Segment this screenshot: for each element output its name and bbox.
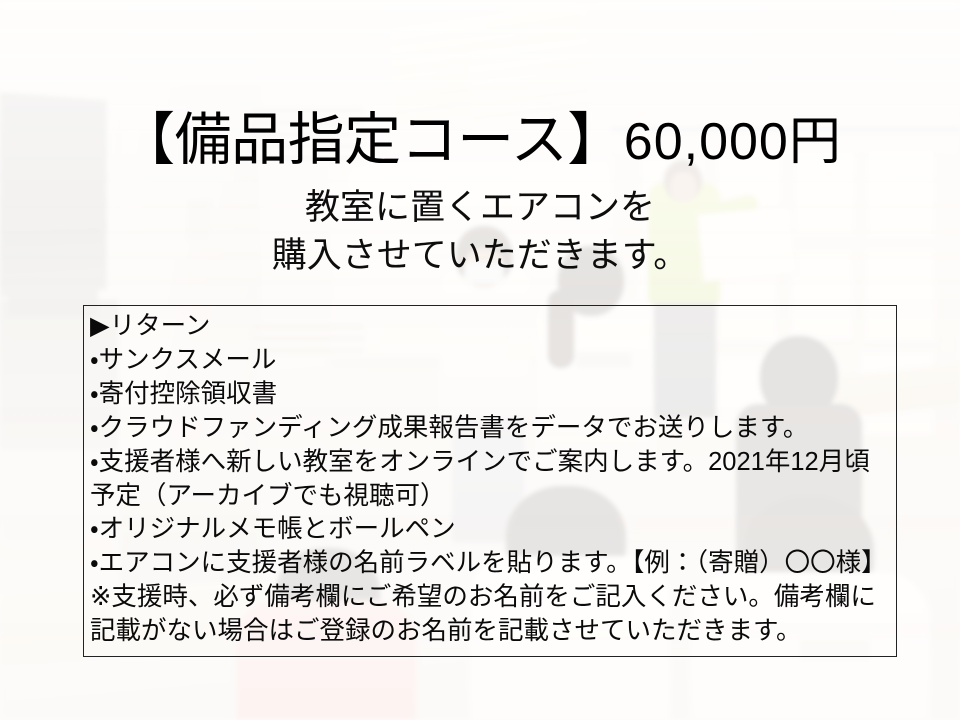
list-item: ・サンクスメール: [90, 344, 888, 378]
page-title: 【備品指定コース】60,000円: [0, 112, 960, 169]
subtitle: 教室に置くエアコンを 購入させていただきます。: [0, 184, 960, 281]
page-title-amount: 60,000円: [624, 113, 842, 171]
list-item: ・寄付控除領収書: [90, 378, 888, 412]
list-item: ・エアコンに支援者様の名前ラベルを貼ります。【例：（寄贈）〇〇様】: [90, 547, 888, 581]
page-title-course: 【備品指定コース】: [118, 108, 624, 172]
list-item: ・クラウドファンディング成果報告書をデータでお送りします。: [90, 412, 888, 446]
returns-list: ▶リターン ・サンクスメール ・寄付控除領収書 ・クラウドファンディング成果報告…: [90, 310, 888, 649]
list-item: ・オリジナルメモ帳とボールペン: [90, 513, 888, 547]
list-item-note: ※支援時、必ず備考欄にご希望のお名前をご記入ください。備考欄に記載がない場合はご…: [90, 581, 888, 649]
subtitle-line-2: 購入させていただきます。: [0, 232, 960, 280]
slide-root: 【備品指定コース】60,000円 教室に置くエアコンを 購入させていただきます。…: [0, 0, 960, 720]
list-item: ・支援者様へ新しい教室をオンラインでご案内します。2021年12月頃予定（アーカ…: [90, 446, 888, 514]
returns-heading: ▶リターン: [90, 310, 888, 344]
subtitle-line-1: 教室に置くエアコンを: [0, 184, 960, 232]
slide-content: 【備品指定コース】60,000円 教室に置くエアコンを 購入させていただきます。…: [0, 0, 960, 720]
returns-box: ▶リターン ・サンクスメール ・寄付控除領収書 ・クラウドファンディング成果報告…: [83, 305, 897, 657]
